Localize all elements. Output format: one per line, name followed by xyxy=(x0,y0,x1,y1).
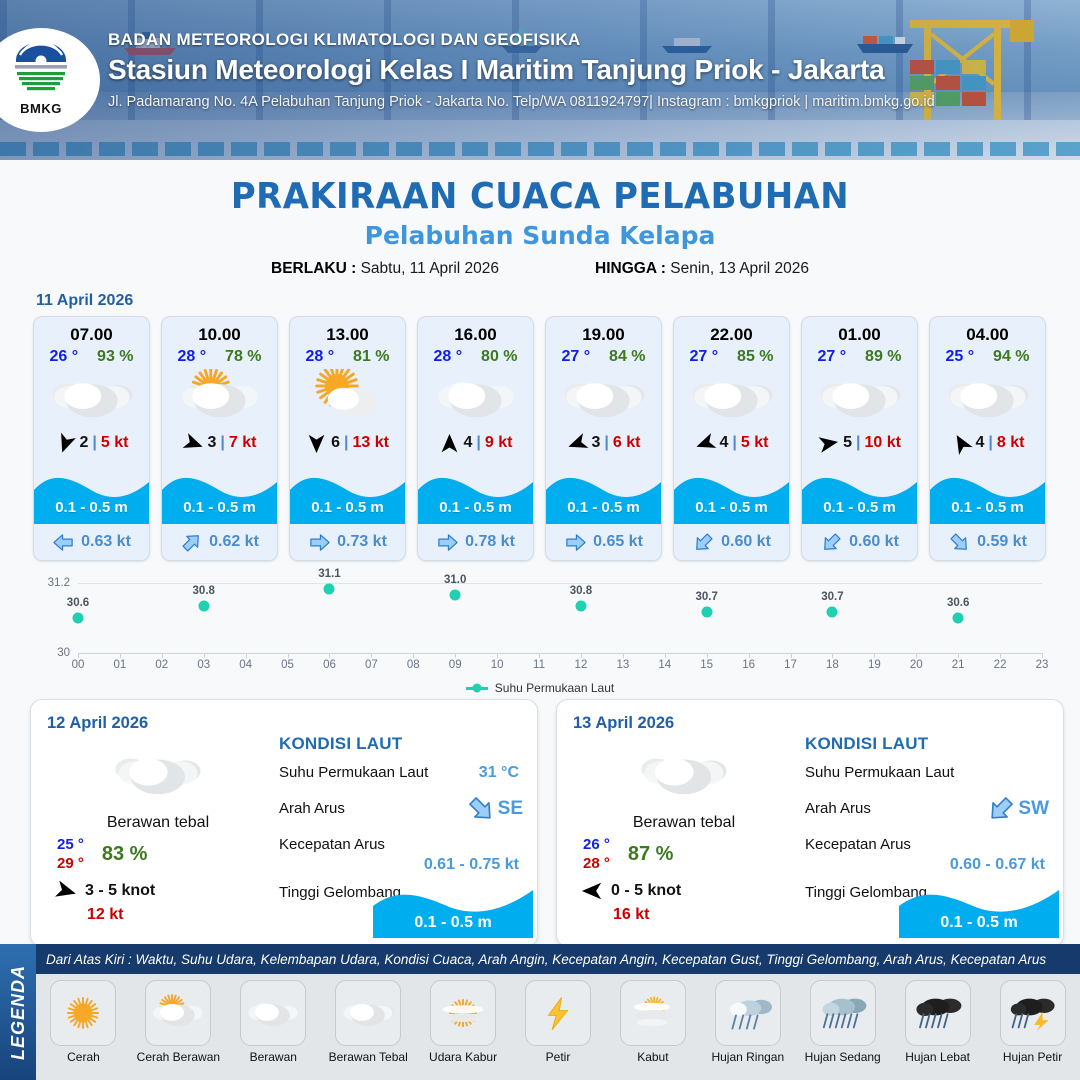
chart-x-mark xyxy=(665,653,666,658)
legend-icon-box xyxy=(715,980,781,1046)
daily-wind-speed: 0 - 5 knot xyxy=(611,882,681,900)
sst-value: 31 °C xyxy=(479,764,519,782)
weather-icon-berawan-tebal xyxy=(814,369,906,425)
card-temperature: 26 ° xyxy=(49,348,78,366)
hourly-forecast-card: 19.00 27 ° 84 % 3 | 6 kt 0.1 - 0.5 m 0.6… xyxy=(545,316,662,561)
daily-temp-column: 25 ° 29 ° xyxy=(57,836,84,872)
chart-x-tick: 13 xyxy=(616,659,629,671)
chart-x-tick: 08 xyxy=(407,659,420,671)
current-speed-label: Kecepatan Arus xyxy=(805,836,911,853)
legend-item: Cerah Berawan xyxy=(132,980,224,1064)
card-wind-speed: 8 kt xyxy=(997,434,1025,452)
card-wind-row: 5 | 10 kt xyxy=(802,430,917,456)
card-wave-zone: 0.1 - 0.5 m 0.60 kt xyxy=(802,470,917,560)
chart-x-tick: 01 xyxy=(114,659,127,671)
card-wind-scale: 3 xyxy=(592,434,601,452)
hourly-forecast-card: 04.00 25 ° 94 % 4 | 8 kt 0.1 - 0.5 m 0.5… xyxy=(929,316,1046,561)
agency-name: BADAN METEOROLOGI KLIMATOLOGI DAN GEOFIS… xyxy=(108,30,1068,50)
chart-x-mark xyxy=(288,653,289,658)
legend-items-row: Cerah Cerah Berawan Berawan Berawan Teba… xyxy=(36,974,1080,1080)
current-direction-group: SE xyxy=(466,794,523,824)
title-block: PRAKIRAAN CUACA PELABUHAN Pelabuhan Sund… xyxy=(0,176,1080,278)
card-wind-row: 4 | 9 kt xyxy=(418,430,533,456)
daily-wave-value: 0.1 - 0.5 m xyxy=(373,914,533,932)
sst-chart-legend: Suhu Permukaan Laut xyxy=(20,681,1060,695)
card-wind-row: 4 | 8 kt xyxy=(930,430,1045,456)
chart-x-mark xyxy=(749,653,750,658)
legend-item-label: Hujan Sedang xyxy=(805,1050,881,1064)
daily-gust: 16 kt xyxy=(579,906,789,924)
card-humidity: 85 % xyxy=(737,348,773,366)
chart-x-tick: 17 xyxy=(784,659,797,671)
card-temp-hum-row: 27 ° 84 % xyxy=(546,348,661,366)
daily-weather-icon xyxy=(579,744,789,802)
legend-icon-box xyxy=(145,980,211,1046)
card-wind-separator: | xyxy=(856,434,860,452)
weather-icon-udara-kabur xyxy=(433,985,493,1041)
wind-direction-icon xyxy=(306,433,327,454)
header-text-block: BADAN METEOROLOGI KLIMATOLOGI DAN GEOFIS… xyxy=(108,30,1068,110)
current-direction-label: Arah Arus xyxy=(279,800,345,817)
legend-item: Hujan Petir xyxy=(987,980,1079,1064)
wind-direction-icon xyxy=(564,430,591,457)
card-current-speed: 0.65 kt xyxy=(593,533,643,551)
legend-icon-box xyxy=(525,980,591,1046)
current-direction-icon xyxy=(815,526,848,559)
chart-data-point xyxy=(701,607,712,618)
chart-point-label: 30.6 xyxy=(947,597,969,609)
current-direction-icon xyxy=(687,526,720,559)
daily-temp-column: 26 ° 28 ° xyxy=(583,836,610,872)
current-direction-icon xyxy=(943,526,976,559)
daily-gust: 12 kt xyxy=(53,906,263,924)
hingga-value: Senin, 13 April 2026 xyxy=(670,260,809,277)
card-temperature: 28 ° xyxy=(433,348,462,366)
weather-icon-berawan-tebal xyxy=(46,369,138,425)
sst-item: Suhu Permukaan Laut xyxy=(805,764,1045,790)
card-time: 07.00 xyxy=(70,325,113,345)
daily-temp-max: 28 ° xyxy=(583,855,610,872)
daily-temp-max: 29 ° xyxy=(57,855,84,872)
card-wind-scale: 2 xyxy=(80,434,89,452)
legend-item-label: Udara Kabur xyxy=(429,1050,497,1064)
card-current-speed: 0.73 kt xyxy=(337,533,387,551)
chart-x-tick: 22 xyxy=(994,659,1007,671)
current-direction-item: Arah Arus SE xyxy=(279,800,519,826)
weather-icon-berawan-tebal xyxy=(338,985,398,1041)
current-speed-item: Kecepatan Arus 0.61 - 0.75 kt xyxy=(279,836,519,874)
sst-legend-label: Suhu Permukaan Laut xyxy=(495,681,614,695)
weather-icon-cerah-berawan xyxy=(148,985,208,1041)
chart-data-point xyxy=(73,613,84,624)
sst-chart-plot: 31.2300001020304050607080910111213141516… xyxy=(78,583,1042,653)
card-wave-zone: 0.1 - 0.5 m 0.78 kt xyxy=(418,470,533,560)
current-direction-value: SW xyxy=(1018,798,1049,820)
station-address: Jl. Padamarang No. 4A Pelabuhan Tanjung … xyxy=(108,94,1068,110)
legend-item-label: Hujan Ringan xyxy=(711,1050,784,1064)
card-temperature: 27 ° xyxy=(561,348,590,366)
legend-item-label: Berawan xyxy=(250,1050,297,1064)
chart-x-tick: 07 xyxy=(365,659,378,671)
hourly-forecast-card: 16.00 28 ° 80 % 4 | 9 kt 0.1 - 0.5 m 0.7… xyxy=(417,316,534,561)
card-current-row: 0.60 kt xyxy=(674,528,789,556)
card-wind-speed: 10 kt xyxy=(864,434,900,452)
berlaku-value: Sabtu, 11 April 2026 xyxy=(361,260,499,277)
card-wave-height: 0.1 - 0.5 m xyxy=(674,490,789,524)
legend-item-label: Cerah xyxy=(67,1050,100,1064)
hourly-forecast-card: 10.00 28 ° 78 % 3 | 7 kt 0.1 - 0.5 m 0.6… xyxy=(161,316,278,561)
card-wind-scale: 3 xyxy=(208,434,217,452)
card-time: 13.00 xyxy=(326,325,369,345)
wind-direction-icon xyxy=(816,431,840,455)
chart-x-tick: 09 xyxy=(449,659,462,671)
card-time: 10.00 xyxy=(198,325,241,345)
card-humidity: 94 % xyxy=(993,348,1029,366)
card-humidity: 80 % xyxy=(481,348,517,366)
card-temp-hum-row: 28 ° 78 % xyxy=(162,348,277,366)
legend-icon-box xyxy=(620,980,686,1046)
card-wave-zone: 0.1 - 0.5 m 0.63 kt xyxy=(34,470,149,560)
card-humidity: 78 % xyxy=(225,348,261,366)
current-direction-icon xyxy=(436,531,459,554)
card-wave-height: 0.1 - 0.5 m xyxy=(546,490,661,524)
card-wind-speed: 6 kt xyxy=(613,434,641,452)
legend-item-label: Hujan Petir xyxy=(1003,1050,1062,1064)
weather-icon-berawan xyxy=(430,369,522,425)
daily-humidity: 83 % xyxy=(102,843,148,866)
current-direction-icon xyxy=(980,788,1022,830)
card-temp-hum-row: 28 ° 80 % xyxy=(418,348,533,366)
card-wind-separator: | xyxy=(732,434,736,452)
chart-x-mark xyxy=(246,653,247,658)
chart-x-mark xyxy=(791,653,792,658)
daily-left-column: Berawan tebal 25 ° 29 ° 83 % 3 - 5 knot … xyxy=(53,744,263,924)
card-wave-height: 0.1 - 0.5 m xyxy=(930,490,1045,524)
legend-side-tab: LEGENDA xyxy=(0,944,36,1080)
bmkg-logo-text: BMKG xyxy=(20,101,62,116)
chart-x-mark xyxy=(204,653,205,658)
chart-data-point xyxy=(575,601,586,612)
card-wind-scale: 4 xyxy=(464,434,473,452)
card-wind-row: 6 | 13 kt xyxy=(290,430,405,456)
wind-direction-icon xyxy=(692,430,719,457)
hourly-forecast-card: 22.00 27 ° 85 % 4 | 5 kt 0.1 - 0.5 m 0.6… xyxy=(673,316,790,561)
hingga-label: HINGGA : xyxy=(595,260,666,277)
card-current-speed: 0.59 kt xyxy=(977,533,1027,551)
legend-icon-box xyxy=(335,980,401,1046)
card-wave-height: 0.1 - 0.5 m xyxy=(34,490,149,524)
legend-item-label: Hujan Lebat xyxy=(905,1050,970,1064)
legend-icon-box xyxy=(430,980,496,1046)
card-current-row: 0.63 kt xyxy=(34,528,149,556)
card-wind-scale: 5 xyxy=(843,434,852,452)
legend-item: Berawan xyxy=(227,980,319,1064)
wind-direction-icon xyxy=(180,430,207,457)
card-temp-hum-row: 27 ° 89 % xyxy=(802,348,917,366)
sst-legend-marker-icon xyxy=(466,687,488,690)
card-wind-speed: 5 kt xyxy=(741,434,769,452)
chart-x-mark xyxy=(1042,653,1043,658)
card-wind-row: 3 | 6 kt xyxy=(546,430,661,456)
chart-point-label: 30.7 xyxy=(821,591,843,603)
current-speed-value: 0.61 - 0.75 kt xyxy=(279,856,519,874)
weather-icon-berawan-tebal xyxy=(108,744,208,802)
card-time: 04.00 xyxy=(966,325,1009,345)
card-wind-separator: | xyxy=(92,434,96,452)
legend-item: Udara Kabur xyxy=(417,980,509,1064)
wind-direction-icon xyxy=(581,880,603,902)
chart-x-mark xyxy=(539,653,540,658)
chart-x-tick: 00 xyxy=(72,659,85,671)
daily-forecast-panel: 12 April 2026 Berawan tebal 25 ° 29 ° 83… xyxy=(30,699,538,947)
hingga-group: HINGGA : Senin, 13 April 2026 xyxy=(595,260,809,278)
card-current-row: 0.59 kt xyxy=(930,528,1045,556)
chart-x-axis: 30 xyxy=(78,653,1042,654)
daily-wave-graphic: 0.1 - 0.5 m xyxy=(373,880,533,938)
berlaku-group: BERLAKU : Sabtu, 11 April 2026 xyxy=(271,260,499,278)
daily-left-column: Berawan tebal 26 ° 28 ° 87 % 0 - 5 knot … xyxy=(579,744,789,924)
chart-data-point xyxy=(450,589,461,600)
chart-x-mark xyxy=(371,653,372,658)
legend-side-label: LEGENDA xyxy=(8,964,29,1059)
card-temp-hum-row: 27 ° 85 % xyxy=(674,348,789,366)
current-direction-icon xyxy=(175,526,208,559)
chart-x-tick: 02 xyxy=(155,659,168,671)
current-direction-label: Arah Arus xyxy=(805,800,871,817)
card-wave-height: 0.1 - 0.5 m xyxy=(418,490,533,524)
chart-x-tick: 06 xyxy=(323,659,336,671)
card-current-speed: 0.60 kt xyxy=(721,533,771,551)
daily-date: 12 April 2026 xyxy=(47,714,521,733)
daily-wind-row: 3 - 5 knot xyxy=(53,880,263,902)
chart-x-mark xyxy=(623,653,624,658)
legend-icon-box xyxy=(905,980,971,1046)
card-weather-icon xyxy=(290,368,405,426)
legend-item: Hujan Ringan xyxy=(702,980,794,1064)
card-time: 16.00 xyxy=(454,325,497,345)
daily-condition: Berawan tebal xyxy=(579,814,789,832)
card-temperature: 27 ° xyxy=(817,348,846,366)
daily-wind-row: 0 - 5 knot xyxy=(579,880,789,902)
chart-x-tick: 11 xyxy=(533,659,545,671)
daily-wave-graphic: 0.1 - 0.5 m xyxy=(899,880,1059,938)
chart-x-tick: 05 xyxy=(281,659,294,671)
daily-wind-speed: 3 - 5 knot xyxy=(85,882,155,900)
legend-icon-box xyxy=(1000,980,1066,1046)
weather-icon-berawan xyxy=(243,985,303,1041)
chart-data-point xyxy=(827,607,838,618)
chart-x-tick: 23 xyxy=(1036,659,1049,671)
card-current-speed: 0.63 kt xyxy=(81,533,131,551)
bmkg-logo-mark xyxy=(10,44,72,100)
weather-icon-cerah xyxy=(53,985,113,1041)
legend-item: Hujan Sedang xyxy=(797,980,889,1064)
sst-chart: 31.2300001020304050607080910111213141516… xyxy=(20,577,1060,695)
daily-humidity: 87 % xyxy=(628,843,674,866)
wind-direction-icon xyxy=(947,429,976,458)
card-wind-separator: | xyxy=(476,434,480,452)
card-temperature: 27 ° xyxy=(689,348,718,366)
chart-point-label: 30.6 xyxy=(67,597,89,609)
legend-icon-box xyxy=(50,980,116,1046)
card-wave-height: 0.1 - 0.5 m xyxy=(162,490,277,524)
card-wave-zone: 0.1 - 0.5 m 0.59 kt xyxy=(930,470,1045,560)
current-direction-icon xyxy=(308,531,331,554)
daily-wave-value: 0.1 - 0.5 m xyxy=(899,914,1059,932)
card-wind-row: 3 | 7 kt xyxy=(162,430,277,456)
card-wave-zone: 0.1 - 0.5 m 0.62 kt xyxy=(162,470,277,560)
chart-x-tick: 18 xyxy=(826,659,839,671)
card-wind-speed: 5 kt xyxy=(101,434,129,452)
station-name: Stasiun Meteorologi Kelas I Maritim Tanj… xyxy=(108,54,1068,86)
card-wave-zone: 0.1 - 0.5 m 0.73 kt xyxy=(290,470,405,560)
card-temp-hum-row: 28 ° 81 % xyxy=(290,348,405,366)
daily-forecast-panel: 13 April 2026 Berawan tebal 26 ° 28 ° 87… xyxy=(556,699,1064,947)
current-speed-value: 0.60 - 0.67 kt xyxy=(805,856,1045,874)
chart-x-mark xyxy=(455,653,456,658)
card-weather-icon xyxy=(802,368,917,426)
chart-x-mark xyxy=(581,653,582,658)
daily-date: 13 April 2026 xyxy=(573,714,1047,733)
validity-row: BERLAKU : Sabtu, 11 April 2026 HINGGA : … xyxy=(0,260,1080,278)
daily-temp-min: 25 ° xyxy=(57,836,84,853)
chart-x-mark xyxy=(329,653,330,658)
chart-point-label: 30.8 xyxy=(570,585,592,597)
current-speed-item: Kecepatan Arus 0.60 - 0.67 kt xyxy=(805,836,1045,874)
legend-item-label: Kabut xyxy=(637,1050,668,1064)
card-weather-icon xyxy=(418,368,533,426)
chart-x-tick: 10 xyxy=(491,659,504,671)
card-wind-speed: 9 kt xyxy=(485,434,513,452)
legend-note: Dari Atas Kiri : Waktu, Suhu Udara, Kele… xyxy=(36,944,1080,974)
page-header: BMKG BADAN METEOROLOGI KLIMATOLOGI DAN G… xyxy=(0,0,1080,160)
chart-x-mark xyxy=(958,653,959,658)
legend-item-label: Berawan Tebal xyxy=(329,1050,408,1064)
current-direction-icon xyxy=(564,531,587,554)
berlaku-label: BERLAKU : xyxy=(271,260,356,277)
chart-gridline: 31.2 xyxy=(78,583,1042,584)
card-current-speed: 0.78 kt xyxy=(465,533,515,551)
page-title: PRAKIRAAN CUACA PELABUHAN xyxy=(32,176,1047,217)
chart-x-tick: 20 xyxy=(910,659,923,671)
card-humidity: 84 % xyxy=(609,348,645,366)
current-direction-icon xyxy=(459,788,501,830)
card-wave-zone: 0.1 - 0.5 m 0.60 kt xyxy=(674,470,789,560)
chart-x-mark xyxy=(874,653,875,658)
chart-x-tick: 04 xyxy=(239,659,252,671)
card-wind-separator: | xyxy=(604,434,608,452)
card-wind-speed: 7 kt xyxy=(229,434,257,452)
current-direction-item: Arah Arus SW xyxy=(805,800,1045,826)
hourly-forecast-card: 07.00 26 ° 93 % 2 | 5 kt 0.1 - 0.5 m 0.6… xyxy=(33,316,150,561)
card-wind-separator: | xyxy=(220,434,224,452)
weather-icon-hujan-petir xyxy=(1003,985,1063,1041)
chart-y-tick: 31.2 xyxy=(48,577,70,589)
chart-x-tick: 14 xyxy=(658,659,671,671)
chart-data-point xyxy=(324,583,335,594)
chart-point-label: 31.1 xyxy=(318,568,340,580)
chart-x-mark xyxy=(1000,653,1001,658)
legend-icon-box xyxy=(240,980,306,1046)
weather-icon-cerah-berawan xyxy=(174,369,266,425)
weather-icon-cerah-berawan-2 xyxy=(302,369,394,425)
legend-item: Kabut xyxy=(607,980,699,1064)
chart-x-mark xyxy=(413,653,414,658)
card-time: 22.00 xyxy=(710,325,753,345)
sst-label: Suhu Permukaan Laut xyxy=(805,764,954,781)
card-wind-row: 4 | 5 kt xyxy=(674,430,789,456)
sst-label: Suhu Permukaan Laut xyxy=(279,764,428,781)
weather-icon-berawan-tebal xyxy=(942,369,1034,425)
chart-point-label: 30.8 xyxy=(193,585,215,597)
current-direction-group: SW xyxy=(986,794,1049,824)
legend-item: Hujan Lebat xyxy=(892,980,984,1064)
card-wind-separator: | xyxy=(988,434,992,452)
card-wind-row: 2 | 5 kt xyxy=(34,430,149,456)
legend-icon-box xyxy=(810,980,876,1046)
sst-item: Suhu Permukaan Laut 31 °C xyxy=(279,764,519,790)
weather-icon-berawan-tebal xyxy=(686,369,778,425)
legend-item: Cerah xyxy=(37,980,129,1064)
card-weather-icon xyxy=(546,368,661,426)
card-humidity: 81 % xyxy=(353,348,389,366)
weather-icon-berawan-tebal xyxy=(634,744,734,802)
legend-item-label: Cerah Berawan xyxy=(137,1050,220,1064)
card-temperature: 25 ° xyxy=(945,348,974,366)
chart-x-tick: 12 xyxy=(575,659,588,671)
card-wind-scale: 4 xyxy=(720,434,729,452)
card-wave-zone: 0.1 - 0.5 m 0.65 kt xyxy=(546,470,661,560)
card-current-row: 0.73 kt xyxy=(290,528,405,556)
card-current-row: 0.62 kt xyxy=(162,528,277,556)
chart-x-tick: 15 xyxy=(700,659,713,671)
chart-x-tick: 16 xyxy=(742,659,755,671)
chart-x-tick: 03 xyxy=(197,659,210,671)
card-wave-height: 0.1 - 0.5 m xyxy=(290,490,405,524)
current-speed-label: Kecepatan Arus xyxy=(279,836,385,853)
daily-weather-icon xyxy=(53,744,263,802)
card-temp-hum-row: 25 ° 94 % xyxy=(930,348,1045,366)
chart-point-label: 31.0 xyxy=(444,574,466,586)
card-humidity: 93 % xyxy=(97,348,133,366)
hourly-forecast-row: 07.00 26 ° 93 % 2 | 5 kt 0.1 - 0.5 m 0.6… xyxy=(33,316,1080,561)
card-wave-height: 0.1 - 0.5 m xyxy=(802,490,917,524)
card-wind-scale: 6 xyxy=(331,434,340,452)
chart-x-mark xyxy=(78,653,79,658)
card-weather-icon xyxy=(34,368,149,426)
daily-temp-hum-row: 25 ° 29 ° 83 % xyxy=(53,836,263,872)
card-temperature: 28 ° xyxy=(177,348,206,366)
sea-conditions-title: KONDISI LAUT xyxy=(279,734,519,754)
card-humidity: 89 % xyxy=(865,348,901,366)
legend-bar: LEGENDA Dari Atas Kiri : Waktu, Suhu Uda… xyxy=(0,944,1080,1080)
current-direction-icon xyxy=(52,531,75,554)
card-wind-separator: | xyxy=(344,434,348,452)
daily-temp-hum-row: 26 ° 28 ° 87 % xyxy=(579,836,789,872)
card-weather-icon xyxy=(930,368,1045,426)
chart-x-mark xyxy=(497,653,498,658)
card-weather-icon xyxy=(674,368,789,426)
page-subtitle: Pelabuhan Sunda Kelapa xyxy=(0,221,1080,250)
card-current-speed: 0.62 kt xyxy=(209,533,259,551)
card-time: 01.00 xyxy=(838,325,881,345)
chart-x-tick: 19 xyxy=(868,659,881,671)
daily-forecast-row: 12 April 2026 Berawan tebal 25 ° 29 ° 83… xyxy=(30,699,1080,947)
weather-icon-hujan-ringan xyxy=(718,985,778,1041)
legend-item: Berawan Tebal xyxy=(322,980,414,1064)
card-current-row: 0.65 kt xyxy=(546,528,661,556)
card-current-row: 0.78 kt xyxy=(418,528,533,556)
